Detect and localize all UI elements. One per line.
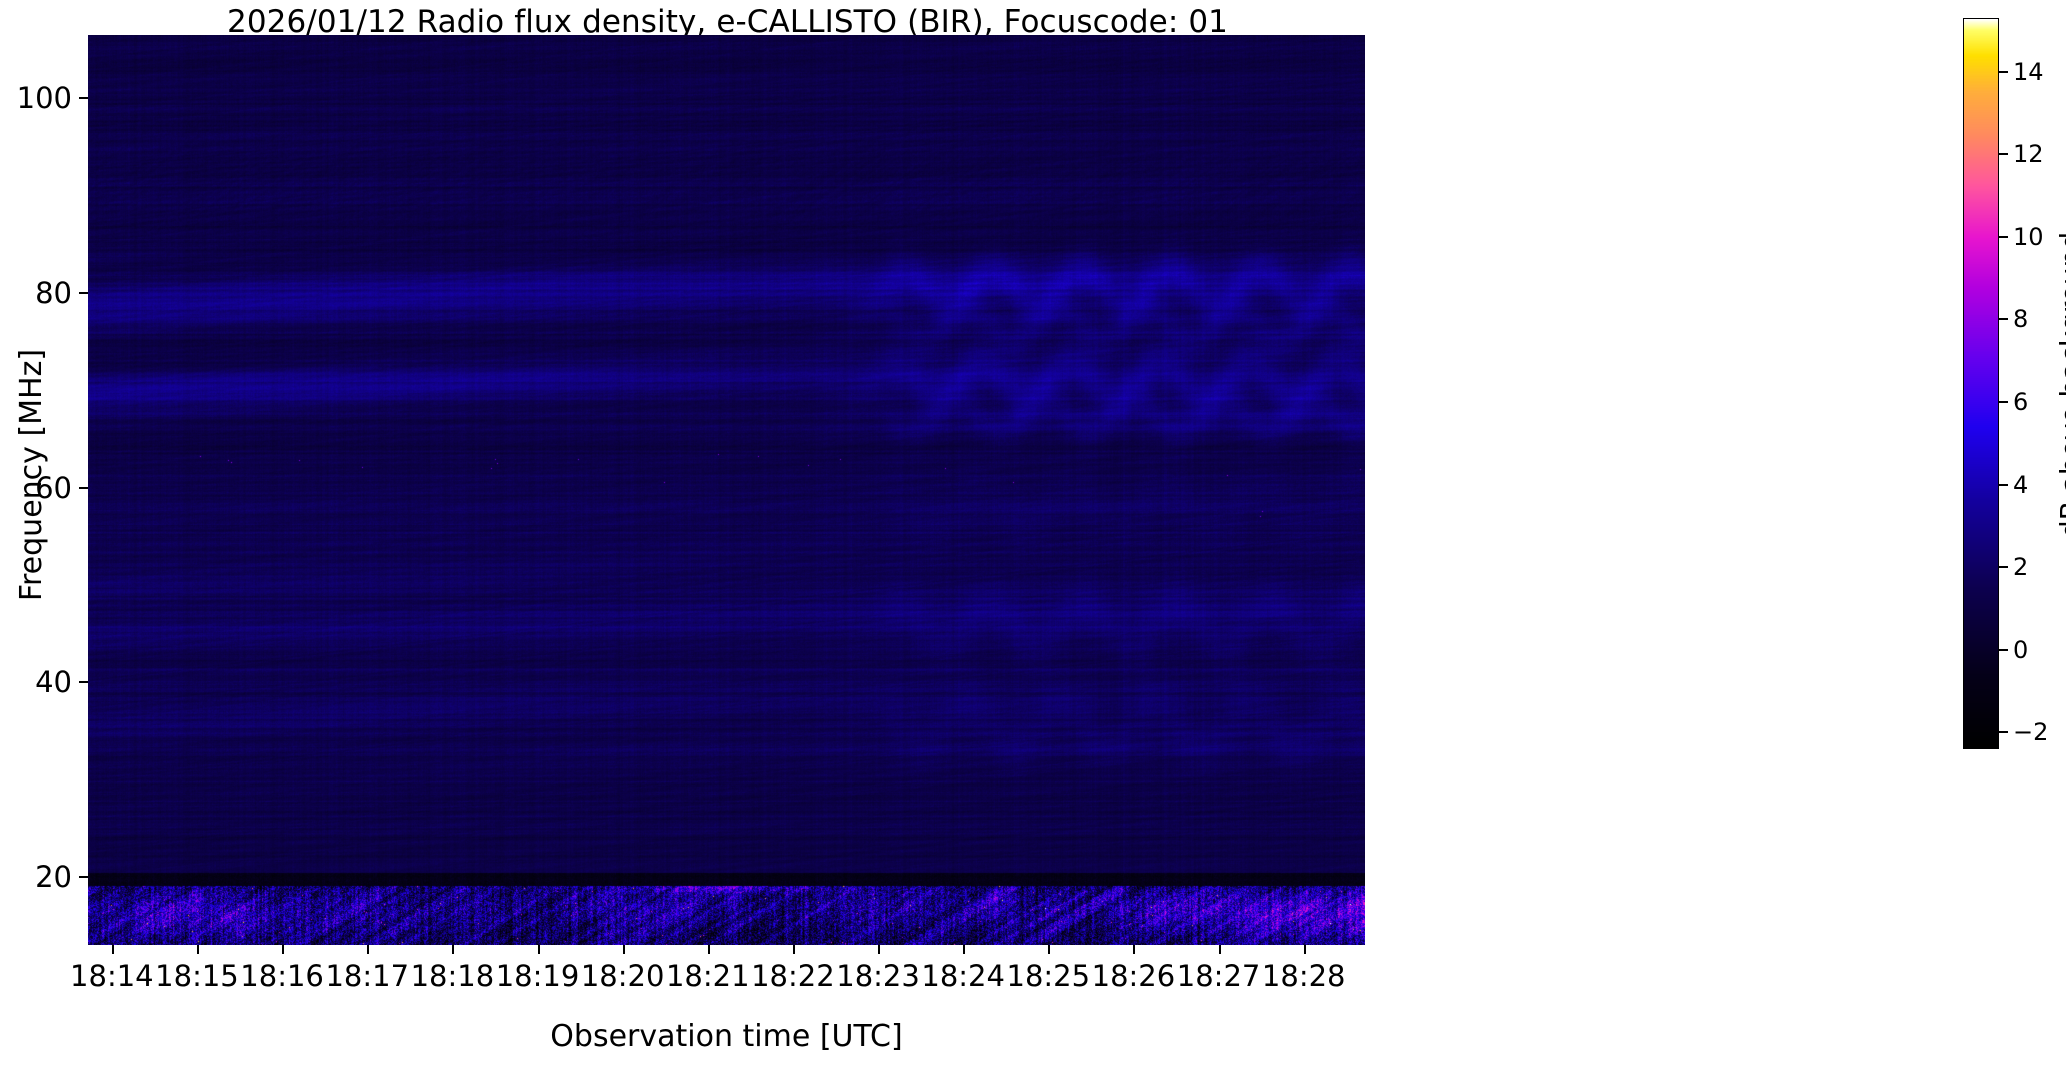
- colorbar-tick-label: 6: [2013, 388, 2028, 416]
- colorbar: [1963, 18, 1999, 749]
- x-tick-mark: [623, 945, 625, 954]
- colorbar-tick-mark: [1999, 153, 2008, 155]
- x-axis-label: Observation time [UTC]: [88, 1016, 1365, 1056]
- colorbar-tick-label: 12: [2013, 140, 2044, 168]
- spectrogram-image: [88, 35, 1365, 945]
- spectrogram-figure: 2026/01/12 Radio flux density, e-CALLIST…: [0, 0, 2066, 1067]
- spectrogram-plot-area: [88, 35, 1365, 945]
- x-tick-mark: [793, 945, 795, 954]
- y-tick-mark: [79, 97, 88, 99]
- x-tick-label: 18:17: [325, 959, 409, 993]
- x-tick-label: 18:26: [1092, 959, 1176, 993]
- x-tick-label: 18:20: [581, 959, 665, 993]
- colorbar-tick-mark: [1999, 566, 2008, 568]
- x-tick-label: 18:22: [751, 959, 835, 993]
- x-tick-mark: [1304, 945, 1306, 954]
- x-tick-mark: [963, 945, 965, 954]
- x-tick-mark: [1133, 945, 1135, 954]
- x-tick-label: 18:16: [240, 959, 324, 993]
- colorbar-tick-label: 14: [2013, 58, 2044, 86]
- x-tick-label: 18:27: [1177, 959, 1261, 993]
- x-tick-label: 18:19: [496, 959, 580, 993]
- colorbar-tick-mark: [1999, 401, 2008, 403]
- y-tick-mark: [79, 876, 88, 878]
- x-tick-label: 18:15: [155, 959, 239, 993]
- y-tick-mark: [79, 292, 88, 294]
- colorbar-label: dB above background: [2050, 85, 2066, 685]
- x-tick-label: 18:21: [666, 959, 750, 993]
- y-tick-label: 20: [2, 860, 72, 894]
- y-tick-mark: [79, 487, 88, 489]
- y-tick-label: 100: [2, 81, 72, 115]
- colorbar-tick-label: 4: [2013, 471, 2028, 499]
- x-tick-label: 18:23: [836, 959, 920, 993]
- x-tick-mark: [878, 945, 880, 954]
- y-tick-label: 40: [2, 665, 72, 699]
- x-tick-mark: [282, 945, 284, 954]
- x-tick-mark: [1219, 945, 1221, 954]
- x-tick-label: 18:18: [411, 959, 495, 993]
- x-tick-mark: [1048, 945, 1050, 954]
- colorbar-tick-mark: [1999, 731, 2008, 733]
- x-tick-mark: [452, 945, 454, 954]
- y-tick-label: 60: [2, 471, 72, 505]
- x-tick-label: 18:25: [1007, 959, 1091, 993]
- x-tick-mark: [538, 945, 540, 954]
- x-tick-mark: [708, 945, 710, 954]
- x-tick-label: 18:28: [1262, 959, 1346, 993]
- x-tick-mark: [367, 945, 369, 954]
- colorbar-tick-label: 0: [2013, 636, 2028, 664]
- x-tick-mark: [197, 945, 199, 954]
- x-tick-mark: [112, 945, 114, 954]
- colorbar-tick-label: 10: [2013, 223, 2044, 251]
- colorbar-tick-label: −2: [2013, 718, 2048, 746]
- y-tick-label: 80: [2, 276, 72, 310]
- colorbar-tick-mark: [1999, 236, 2008, 238]
- colorbar-tick-label: 8: [2013, 305, 2028, 333]
- colorbar-tick-mark: [1999, 71, 2008, 73]
- colorbar-tick-mark: [1999, 484, 2008, 486]
- x-tick-label: 18:24: [921, 959, 1005, 993]
- colorbar-tick-mark: [1999, 318, 2008, 320]
- colorbar-tick-mark: [1999, 649, 2008, 651]
- colorbar-tick-label: 2: [2013, 553, 2028, 581]
- x-tick-label: 18:14: [70, 959, 154, 993]
- colorbar-gradient: [1964, 19, 1998, 748]
- y-tick-mark: [79, 681, 88, 683]
